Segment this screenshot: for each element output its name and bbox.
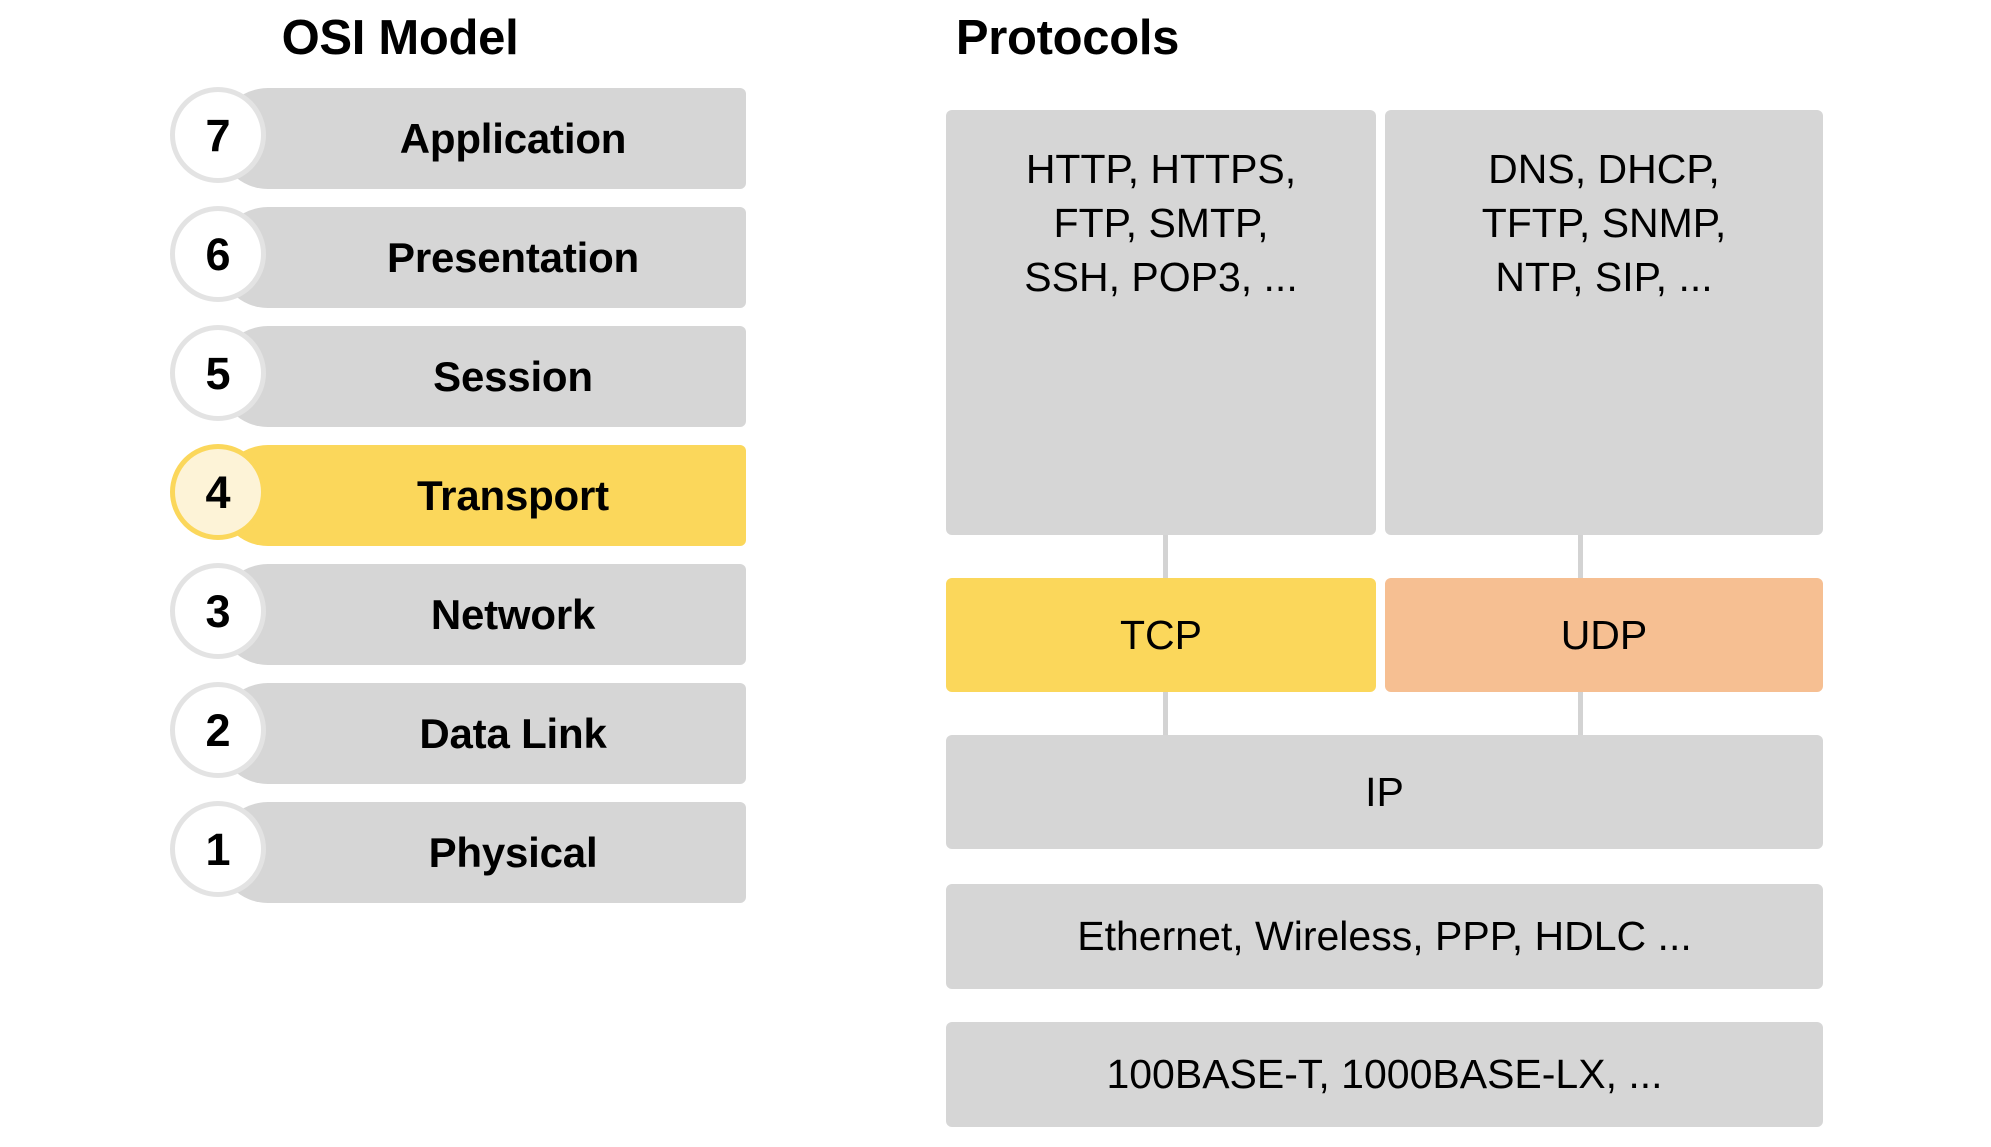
osi-layer-row-6[interactable]: 6 Presentation (218, 207, 746, 308)
layer-label-session: Session (280, 326, 746, 427)
layer-number-badge-2: 2 (170, 682, 266, 778)
layer-number-badge-6: 6 (170, 206, 266, 302)
connector-udp-to-ip (1578, 692, 1583, 740)
connector-app-to-udp (1578, 535, 1583, 583)
osi-layer-row-4[interactable]: 4 Transport (218, 445, 746, 546)
layer-label-data-link: Data Link (280, 683, 746, 784)
protocol-box-udp-text: UDP (1561, 608, 1648, 662)
osi-layer-row-7[interactable]: 7 Application (218, 88, 746, 189)
layer-number-badge-7: 7 (170, 87, 266, 183)
layer-number-badge-1: 1 (170, 801, 266, 897)
protocol-box-application-right[interactable]: DNS, DHCP, TFTP, SNMP, NTP, SIP, ... (1385, 110, 1823, 535)
layer-number-badge-3: 3 (170, 563, 266, 659)
protocol-box-application-left[interactable]: HTTP, HTTPS, FTP, SMTP, SSH, POP3, ... (946, 110, 1376, 535)
layer-label-physical: Physical (280, 802, 746, 903)
protocol-box-ip[interactable]: IP (946, 735, 1823, 849)
protocol-box-application-left-text: HTTP, HTTPS, FTP, SMTP, SSH, POP3, ... (1024, 142, 1297, 304)
protocol-box-physical[interactable]: 100BASE-T, 1000BASE-LX, ... (946, 1022, 1823, 1127)
protocol-box-ip-text: IP (1365, 765, 1404, 819)
layer-label-network: Network (280, 564, 746, 665)
osi-layer-row-1[interactable]: 1 Physical (218, 802, 746, 903)
connector-app-to-tcp (1163, 535, 1168, 583)
layer-label-application: Application (280, 88, 746, 189)
layer-label-transport: Transport (280, 445, 746, 546)
layer-label-presentation: Presentation (280, 207, 746, 308)
osi-layer-row-3[interactable]: 3 Network (218, 564, 746, 665)
protocol-box-physical-text: 100BASE-T, 1000BASE-LX, ... (1106, 1047, 1662, 1101)
protocol-box-datalink-text: Ethernet, Wireless, PPP, HDLC ... (1077, 909, 1691, 963)
osi-model-diagram: OSI Model Protocols 7 Application 6 Pres… (0, 0, 1991, 1147)
layer-number-badge-5: 5 (170, 325, 266, 421)
protocol-box-datalink[interactable]: Ethernet, Wireless, PPP, HDLC ... (946, 884, 1823, 989)
protocol-box-application-right-text: DNS, DHCP, TFTP, SNMP, NTP, SIP, ... (1482, 142, 1727, 304)
connector-tcp-to-ip (1163, 692, 1168, 740)
protocol-box-udp[interactable]: UDP (1385, 578, 1823, 692)
layer-number-badge-4: 4 (170, 444, 266, 540)
protocol-box-tcp[interactable]: TCP (946, 578, 1376, 692)
osi-layer-row-2[interactable]: 2 Data Link (218, 683, 746, 784)
osi-model-column-header: OSI Model (170, 10, 630, 66)
protocols-column-header: Protocols (745, 10, 1390, 66)
protocol-box-tcp-text: TCP (1120, 608, 1202, 662)
osi-layer-row-5[interactable]: 5 Session (218, 326, 746, 427)
